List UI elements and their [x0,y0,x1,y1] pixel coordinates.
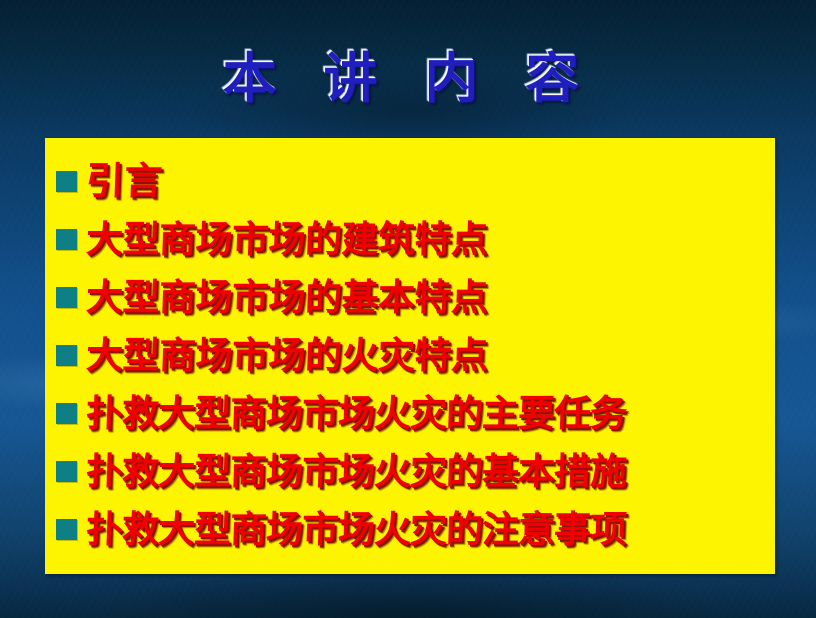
list-item-label: 大型商场市场的建筑特点 [85,221,488,258]
square-bullet-icon [56,345,77,366]
square-bullet-icon [56,461,77,482]
content-panel: 引言 大型商场市场的建筑特点 大型商场市场的基本特点 大型商场市场的火灾特点 扑… [45,138,775,574]
list-item[interactable]: 大型商场市场的建筑特点 [45,210,775,268]
list-item-label: 大型商场市场的基本特点 [85,279,488,316]
square-bullet-icon [56,287,77,308]
square-bullet-icon [56,229,77,250]
list-item[interactable]: 大型商场市场的火灾特点 [45,326,775,384]
list-item-label: 扑救大型商场市场火灾的主要任务 [85,395,626,432]
list-item-label: 引言 [85,162,163,200]
square-bullet-icon [56,403,77,424]
slide-title: 本 讲 内 容 [0,34,816,113]
square-bullet-icon [56,519,77,540]
list-item[interactable]: 扑救大型商场市场火灾的基本措施 [45,442,775,500]
agenda-list: 引言 大型商场市场的建筑特点 大型商场市场的基本特点 大型商场市场的火灾特点 扑… [45,138,775,574]
list-item-label: 扑救大型商场市场火灾的基本措施 [85,453,626,490]
list-item-label: 扑救大型商场市场火灾的注意事项 [85,511,626,548]
list-item[interactable]: 大型商场市场的基本特点 [45,268,775,326]
square-bullet-icon [56,171,77,192]
list-item[interactable]: 扑救大型商场市场火灾的注意事项 [45,500,775,558]
list-item-label: 大型商场市场的火灾特点 [85,337,488,374]
list-item[interactable]: 扑救大型商场市场火灾的主要任务 [45,384,775,442]
presentation-slide: 本 讲 内 容 引言 大型商场市场的建筑特点 大型商场市场的基本特点 大型商场市… [0,0,816,618]
list-item[interactable]: 引言 [45,152,775,210]
